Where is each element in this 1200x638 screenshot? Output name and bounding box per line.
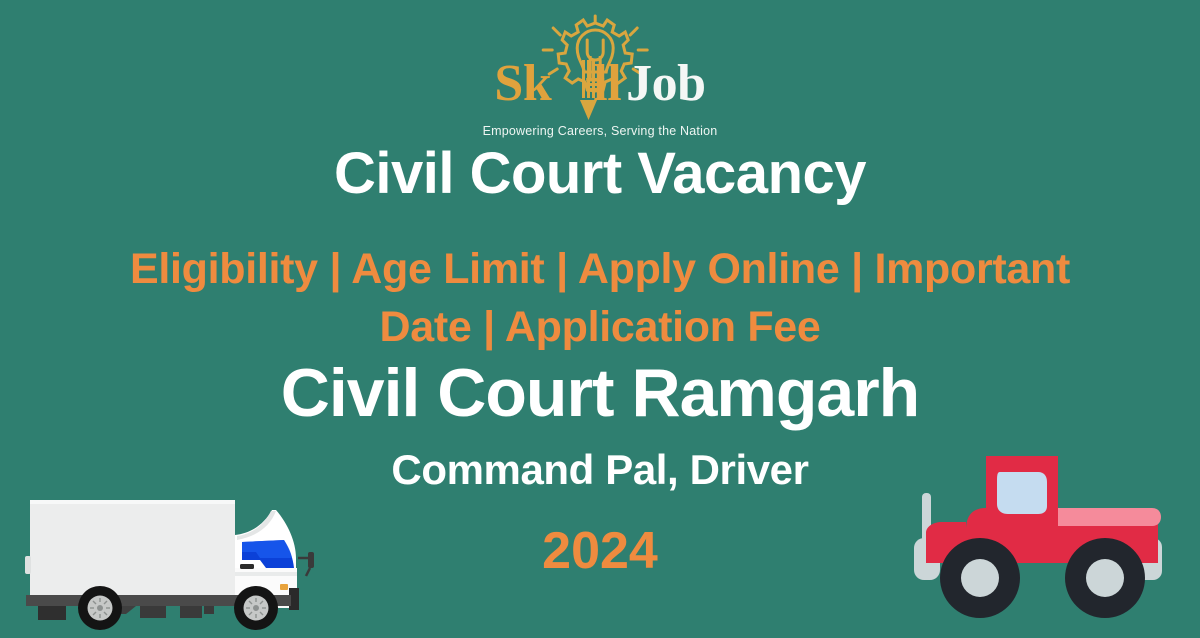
- logo-mark-row: SkllJob: [485, 14, 715, 122]
- red-pickup-truck-illustration: [900, 438, 1190, 628]
- logo-word-job: Job: [626, 55, 705, 112]
- page-title: Civil Court Vacancy: [0, 144, 1200, 205]
- brand-logo: SkllJob Empowering Careers, Serving the …: [0, 14, 1200, 138]
- promotional-banner: SkllJob Empowering Careers, Serving the …: [0, 0, 1200, 638]
- highlights-line: Eligibility | Age Limit | Apply Online |…: [104, 240, 1096, 356]
- pencil-icon: [569, 32, 609, 124]
- white-box-truck-illustration: [8, 480, 338, 630]
- organisation-title: Civil Court Ramgarh: [0, 358, 1200, 429]
- logo-tagline: Empowering Careers, Serving the Nation: [483, 124, 718, 138]
- logo-word-skill-a: Sk: [494, 55, 551, 112]
